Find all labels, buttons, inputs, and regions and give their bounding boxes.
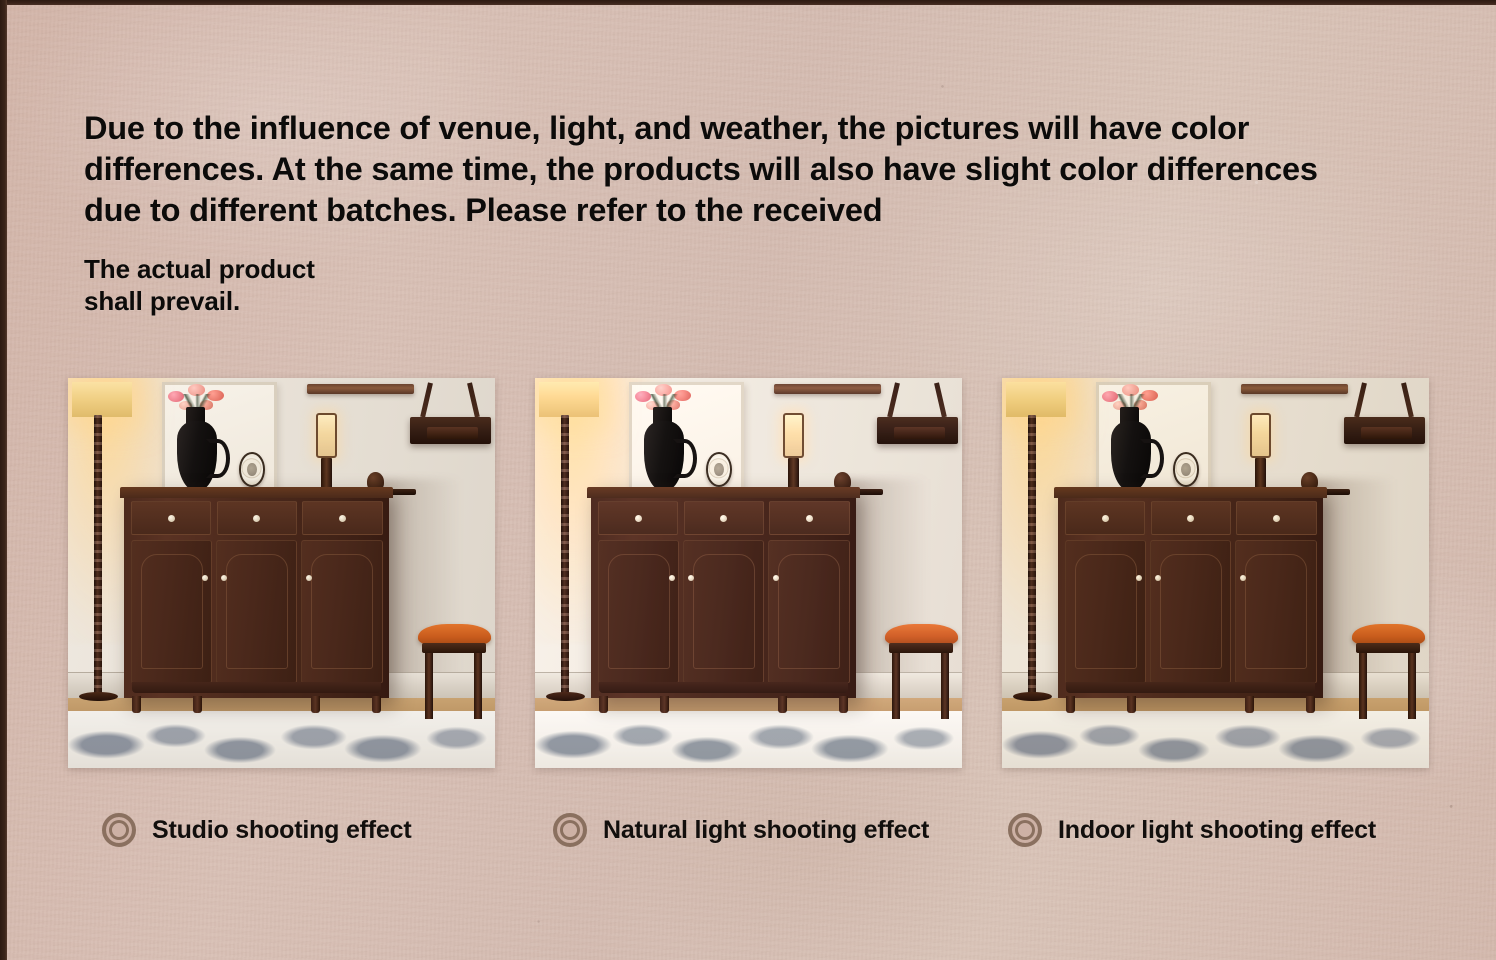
stool-seat — [1352, 624, 1425, 645]
cabinet-door-row — [598, 540, 850, 683]
stool-leg — [474, 653, 483, 719]
cabinet-leg — [132, 696, 141, 713]
cabinet-door-row — [1065, 540, 1317, 683]
stool-seat — [885, 624, 958, 645]
cabinet-drawer — [684, 501, 764, 535]
cabinet-drawer-row — [131, 501, 383, 535]
top-edge-trim — [0, 0, 1496, 5]
candle-holder-stem — [788, 458, 799, 489]
handbag — [894, 427, 945, 439]
stool-leg — [425, 653, 434, 719]
cabinet-drawer — [1065, 501, 1145, 535]
patterned-rug — [68, 711, 495, 768]
caption-indoor: Indoor light shooting effect — [1002, 800, 1429, 860]
color-difference-notice: Due to the influence of venue, light, an… — [84, 108, 1384, 317]
cabinet-door — [1150, 540, 1232, 683]
cabinet-door — [598, 540, 680, 683]
cabinet-drawer — [217, 501, 297, 535]
cabinet-door — [1065, 540, 1147, 683]
stool-rail — [422, 643, 486, 652]
cabinet-leg — [193, 696, 202, 713]
stool-rail — [889, 643, 953, 652]
cabinet-leg — [1127, 696, 1136, 713]
cabinet-drawer — [769, 501, 849, 535]
wall-rail-molding — [1241, 384, 1348, 394]
stool-leg — [1408, 653, 1417, 719]
cabinet-leg — [839, 696, 848, 713]
caption-label-studio: Studio shooting effect — [152, 816, 411, 845]
floor-lamp-pole — [561, 415, 569, 696]
product-photo-studio[interactable] — [68, 378, 495, 768]
notice-headline: Due to the influence of venue, light, an… — [84, 108, 1374, 231]
cabinet-door — [131, 540, 213, 683]
cabinet-top-surface — [120, 487, 393, 498]
room-scene — [68, 378, 495, 768]
floor-lamp-shade — [1006, 382, 1066, 417]
cabinet-leg — [372, 696, 381, 713]
cabinet-apron — [132, 682, 381, 693]
caption-label-indoor: Indoor light shooting effect — [1058, 816, 1376, 845]
page-canvas: Due to the influence of venue, light, an… — [0, 0, 1496, 960]
handbag — [427, 427, 478, 439]
floor-lamp-pole — [1028, 415, 1036, 696]
candle-glass — [1250, 413, 1271, 458]
cabinet-door — [683, 540, 765, 683]
left-edge-trim — [0, 0, 7, 960]
cabinet-top-surface — [587, 487, 860, 498]
wall-rail-molding — [774, 384, 881, 394]
room-scene — [535, 378, 962, 768]
handbag — [1361, 427, 1412, 439]
cabinet-apron — [599, 682, 848, 693]
wall-rail-molding — [307, 384, 414, 394]
patterned-rug — [535, 711, 962, 768]
patterned-rug — [1002, 711, 1429, 768]
notice-subtext: The actual product shall prevail. — [84, 253, 1384, 317]
cabinet-drawer — [302, 501, 382, 535]
cabinet-drawer — [1151, 501, 1231, 535]
cabinet-leg — [1306, 696, 1315, 713]
room-scene — [1002, 378, 1429, 768]
ring-icon — [1008, 813, 1042, 847]
stool-rail — [1356, 643, 1420, 652]
cabinet-top-surface — [1054, 487, 1327, 498]
cabinet-drawer — [1236, 501, 1316, 535]
cabinet-door — [216, 540, 298, 683]
cabinet-door — [301, 540, 383, 683]
cabinet-leg — [1066, 696, 1075, 713]
caption-label-natural: Natural light shooting effect — [603, 816, 929, 845]
floor-lamp-shade — [72, 382, 132, 417]
cabinet-leg — [660, 696, 669, 713]
stool-leg — [892, 653, 901, 719]
cabinet-leg — [1245, 696, 1254, 713]
cabinet-leg — [599, 696, 608, 713]
stool-leg — [941, 653, 950, 719]
cabinet-drawer-row — [1065, 501, 1317, 535]
product-photo-gallery — [68, 378, 1440, 768]
cabinet-door — [1235, 540, 1317, 683]
cabinet-drawer-row — [598, 501, 850, 535]
caption-natural: Natural light shooting effect — [535, 800, 962, 860]
candle-glass — [316, 413, 337, 458]
candle-holder-stem — [321, 458, 332, 489]
shoe-cabinet — [591, 487, 856, 698]
cabinet-drawer — [131, 501, 211, 535]
cabinet-leg — [778, 696, 787, 713]
ring-icon — [102, 813, 136, 847]
cabinet-leg — [311, 696, 320, 713]
photo-captions: Studio shooting effect Natural light sho… — [68, 800, 1440, 860]
cabinet-apron — [1066, 682, 1315, 693]
product-photo-indoor[interactable] — [1002, 378, 1429, 768]
candle-glass — [783, 413, 804, 458]
product-photo-natural[interactable] — [535, 378, 962, 768]
ring-icon — [553, 813, 587, 847]
candle-holder-stem — [1255, 458, 1266, 489]
floor-lamp-pole — [94, 415, 102, 696]
floor-lamp-shade — [539, 382, 599, 417]
shoe-cabinet — [1058, 487, 1323, 698]
cabinet-door-row — [131, 540, 383, 683]
stool-leg — [1359, 653, 1368, 719]
cabinet-drawer — [598, 501, 678, 535]
shoe-cabinet — [124, 487, 389, 698]
stool-seat — [418, 624, 491, 645]
caption-studio: Studio shooting effect — [68, 800, 495, 860]
cabinet-door — [768, 540, 850, 683]
